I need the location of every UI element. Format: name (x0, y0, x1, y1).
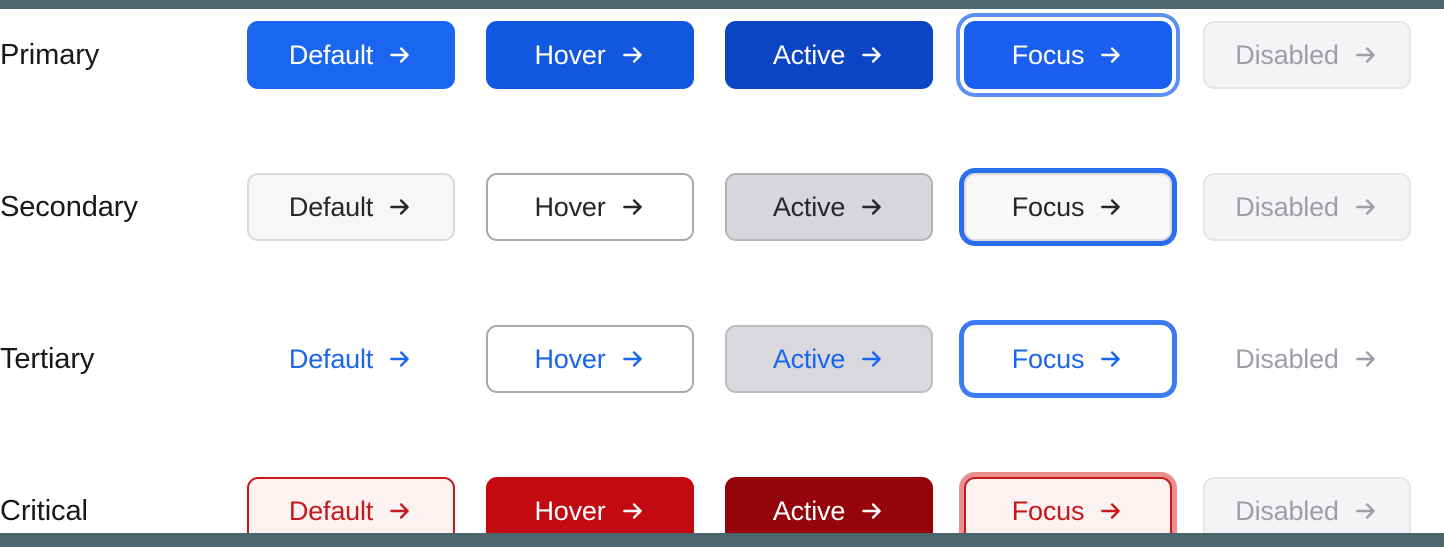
button-secondary-focus[interactable]: Focus (964, 173, 1172, 241)
arrow-right-icon (620, 346, 646, 372)
button-primary-focus[interactable]: Focus (964, 21, 1172, 89)
arrow-right-icon (1098, 346, 1124, 372)
cell-secondary-disabled: Disabled (1203, 161, 1442, 253)
button-label: Focus (1012, 192, 1085, 223)
arrow-right-icon (859, 498, 885, 524)
button-label: Active (773, 40, 845, 71)
arrow-right-icon (387, 498, 413, 524)
cell-primary-active: Active (725, 9, 964, 101)
cell-primary-disabled: Disabled (1203, 9, 1442, 101)
variant-row-secondary: SecondaryDefaultHoverActiveFocusDisabled (0, 161, 1444, 253)
arrow-right-icon (859, 194, 885, 220)
button-label: Disabled (1235, 40, 1338, 71)
button-secondary-disabled: Disabled (1203, 173, 1411, 241)
button-label: Hover (534, 192, 605, 223)
cell-primary-hover: Hover (486, 9, 725, 101)
button-label: Default (289, 192, 373, 223)
button-tertiary-default[interactable]: Default (247, 325, 455, 393)
button-label: Default (289, 40, 373, 71)
bottom-chrome-bar (0, 533, 1444, 547)
cell-tertiary-focus: Focus (964, 313, 1203, 405)
button-label: Hover (534, 40, 605, 71)
button-label: Focus (1012, 344, 1085, 375)
button-tertiary-disabled: Disabled (1203, 325, 1411, 393)
cell-tertiary-default: Default (247, 313, 486, 405)
button-primary-active[interactable]: Active (725, 21, 933, 89)
row-label-tertiary: Tertiary (0, 342, 247, 376)
button-label: Hover (534, 344, 605, 375)
button-label: Focus (1012, 496, 1085, 527)
arrow-right-icon (1353, 498, 1379, 524)
arrow-right-icon (1098, 194, 1124, 220)
cell-tertiary-active: Active (725, 313, 964, 405)
button-tertiary-active[interactable]: Active (725, 325, 933, 393)
cell-secondary-active: Active (725, 161, 964, 253)
button-secondary-hover[interactable]: Hover (486, 173, 694, 241)
button-label: Default (289, 496, 373, 527)
button-tertiary-hover[interactable]: Hover (486, 325, 694, 393)
cell-primary-focus: Focus (964, 9, 1203, 101)
button-tertiary-focus[interactable]: Focus (964, 325, 1172, 393)
button-label: Active (773, 344, 845, 375)
cell-tertiary-disabled: Disabled (1203, 313, 1442, 405)
arrow-right-icon (387, 194, 413, 220)
button-primary-disabled: Disabled (1203, 21, 1411, 89)
button-label: Disabled (1235, 192, 1338, 223)
arrow-right-icon (1098, 498, 1124, 524)
button-matrix-canvas: PrimaryDefaultHoverActiveFocusDisabledSe… (0, 0, 1444, 547)
top-chrome-bar (0, 0, 1444, 9)
arrow-right-icon (859, 346, 885, 372)
button-label: Disabled (1235, 496, 1338, 527)
variant-row-primary: PrimaryDefaultHoverActiveFocusDisabled (0, 9, 1444, 101)
cell-secondary-focus: Focus (964, 161, 1203, 253)
arrow-right-icon (387, 346, 413, 372)
cell-secondary-hover: Hover (486, 161, 725, 253)
button-primary-hover[interactable]: Hover (486, 21, 694, 89)
button-label: Default (289, 344, 373, 375)
arrow-right-icon (1353, 42, 1379, 68)
button-label: Focus (1012, 40, 1085, 71)
arrow-right-icon (620, 42, 646, 68)
arrow-right-icon (859, 42, 885, 68)
arrow-right-icon (1098, 42, 1124, 68)
cell-tertiary-hover: Hover (486, 313, 725, 405)
button-label: Hover (534, 496, 605, 527)
arrow-right-icon (620, 194, 646, 220)
row-label-primary: Primary (0, 38, 247, 72)
button-secondary-active[interactable]: Active (725, 173, 933, 241)
button-matrix-grid: PrimaryDefaultHoverActiveFocusDisabledSe… (0, 9, 1444, 533)
arrow-right-icon (620, 498, 646, 524)
variant-row-tertiary: TertiaryDefaultHoverActiveFocusDisabled (0, 313, 1444, 405)
row-label-secondary: Secondary (0, 190, 247, 224)
button-secondary-default[interactable]: Default (247, 173, 455, 241)
arrow-right-icon (1353, 346, 1379, 372)
arrow-right-icon (387, 42, 413, 68)
cell-secondary-default: Default (247, 161, 486, 253)
button-label: Active (773, 192, 845, 223)
arrow-right-icon (1353, 194, 1379, 220)
button-label: Active (773, 496, 845, 527)
row-label-critical: Critical (0, 494, 247, 528)
button-primary-default[interactable]: Default (247, 21, 455, 89)
button-label: Disabled (1235, 344, 1338, 375)
cell-primary-default: Default (247, 9, 486, 101)
